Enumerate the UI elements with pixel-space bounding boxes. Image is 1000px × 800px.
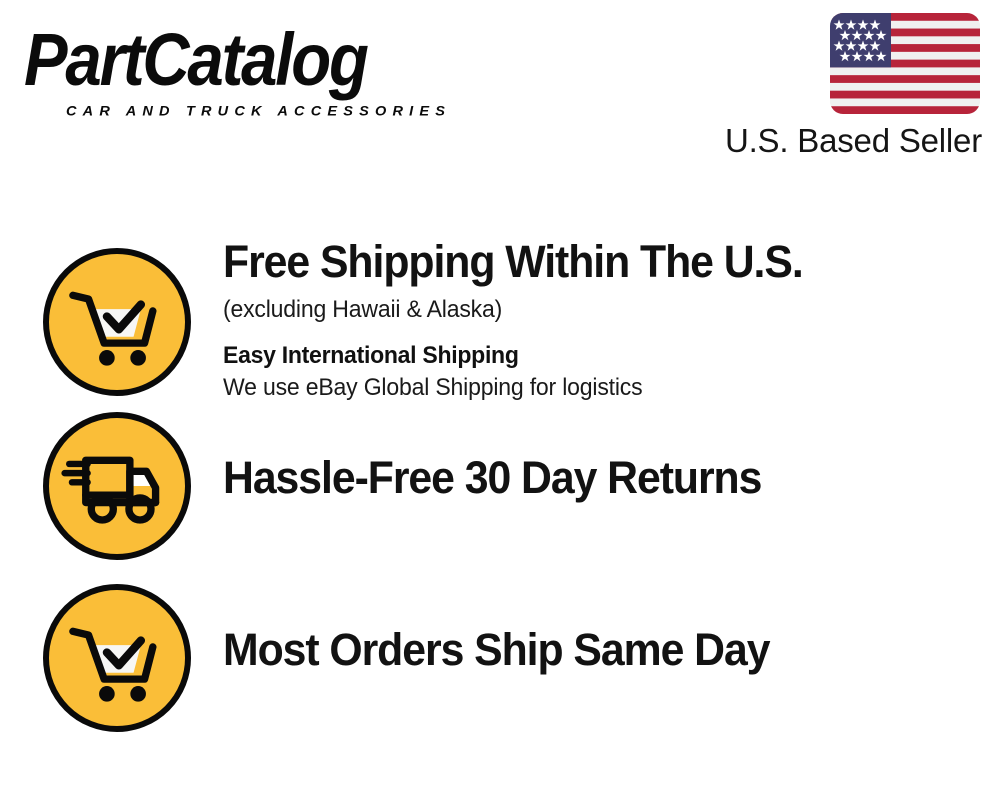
- shopping-cart-check-icon: [43, 584, 191, 732]
- feature-subtext: (excluding Hawaii & Alaska): [223, 294, 933, 326]
- feature-text: Most Orders Ship Same Day: [223, 624, 963, 676]
- brand-wordmark: PartCatalog: [24, 20, 489, 98]
- feature-subtext-strong: Easy International Shipping: [223, 340, 933, 372]
- feature-row: Most Orders Ship Same Day: [0, 576, 1000, 746]
- us-based-seller-label: U.S. Based Seller: [725, 122, 982, 160]
- brand-tagline: CAR AND TRUCK ACCESSORIES: [66, 104, 451, 119]
- brand-logo[interactable]: PartCatalog CAR AND TRUCK ACCESSORIES: [24, 20, 494, 120]
- feature-heading: Most Orders Ship Same Day: [223, 624, 926, 676]
- feature-text: Free Shipping Within The U.S. (excluding…: [223, 236, 963, 404]
- us-based-seller-badge: U.S. Based Seller: [710, 10, 990, 160]
- feature-row: Hassle-Free 30 Day Returns: [0, 404, 1000, 574]
- feature-subtext-detail: We use eBay Global Shipping for logistic…: [223, 372, 933, 404]
- feature-heading: Hassle-Free 30 Day Returns: [223, 452, 926, 504]
- feature-text: Hassle-Free 30 Day Returns: [223, 452, 963, 504]
- spacer: [223, 326, 963, 340]
- us-flag-icon: [830, 13, 980, 114]
- feature-heading: Free Shipping Within The U.S.: [223, 236, 926, 288]
- feature-row: Free Shipping Within The U.S. (excluding…: [0, 232, 1000, 408]
- shopping-cart-check-icon: [43, 248, 191, 396]
- delivery-truck-icon: [43, 412, 191, 560]
- page-header: PartCatalog CAR AND TRUCK ACCESSORIES: [0, 0, 1000, 175]
